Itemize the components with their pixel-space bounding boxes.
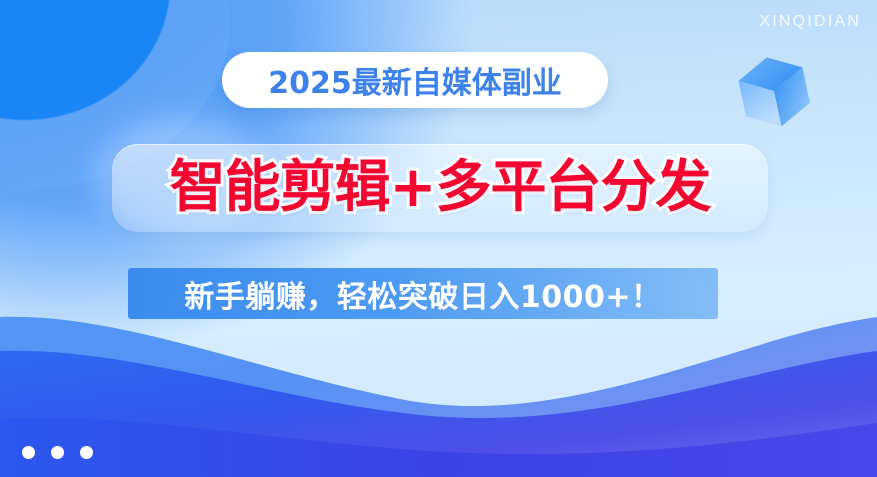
subheadline-text: 新手躺赚，轻松突破日入1000+！ <box>184 272 661 316</box>
dot-3-icon <box>80 446 93 459</box>
headline-title: 智能剪辑+多平台分发 <box>170 160 711 216</box>
headline-bar: 智能剪辑+多平台分发 <box>112 144 768 232</box>
dot-indicator-group <box>22 446 93 459</box>
promo-banner: XINQIDIAN 2025最新自媒体副业 智能剪辑+多平台分发 新手躺赚，轻松… <box>0 0 877 477</box>
headline-pill-badge: 2025最新自媒体副业 <box>222 52 608 108</box>
pill-label: 2025最新自媒体副业 <box>268 58 562 102</box>
dot-2-icon <box>51 446 64 459</box>
watermark-text: XINQIDIAN <box>759 13 861 31</box>
wave-decoration <box>0 307 877 477</box>
subheadline-bar: 新手躺赚，轻松突破日入1000+！ <box>128 268 718 319</box>
cube-3d-icon <box>731 48 817 134</box>
dot-1-icon <box>22 446 35 459</box>
